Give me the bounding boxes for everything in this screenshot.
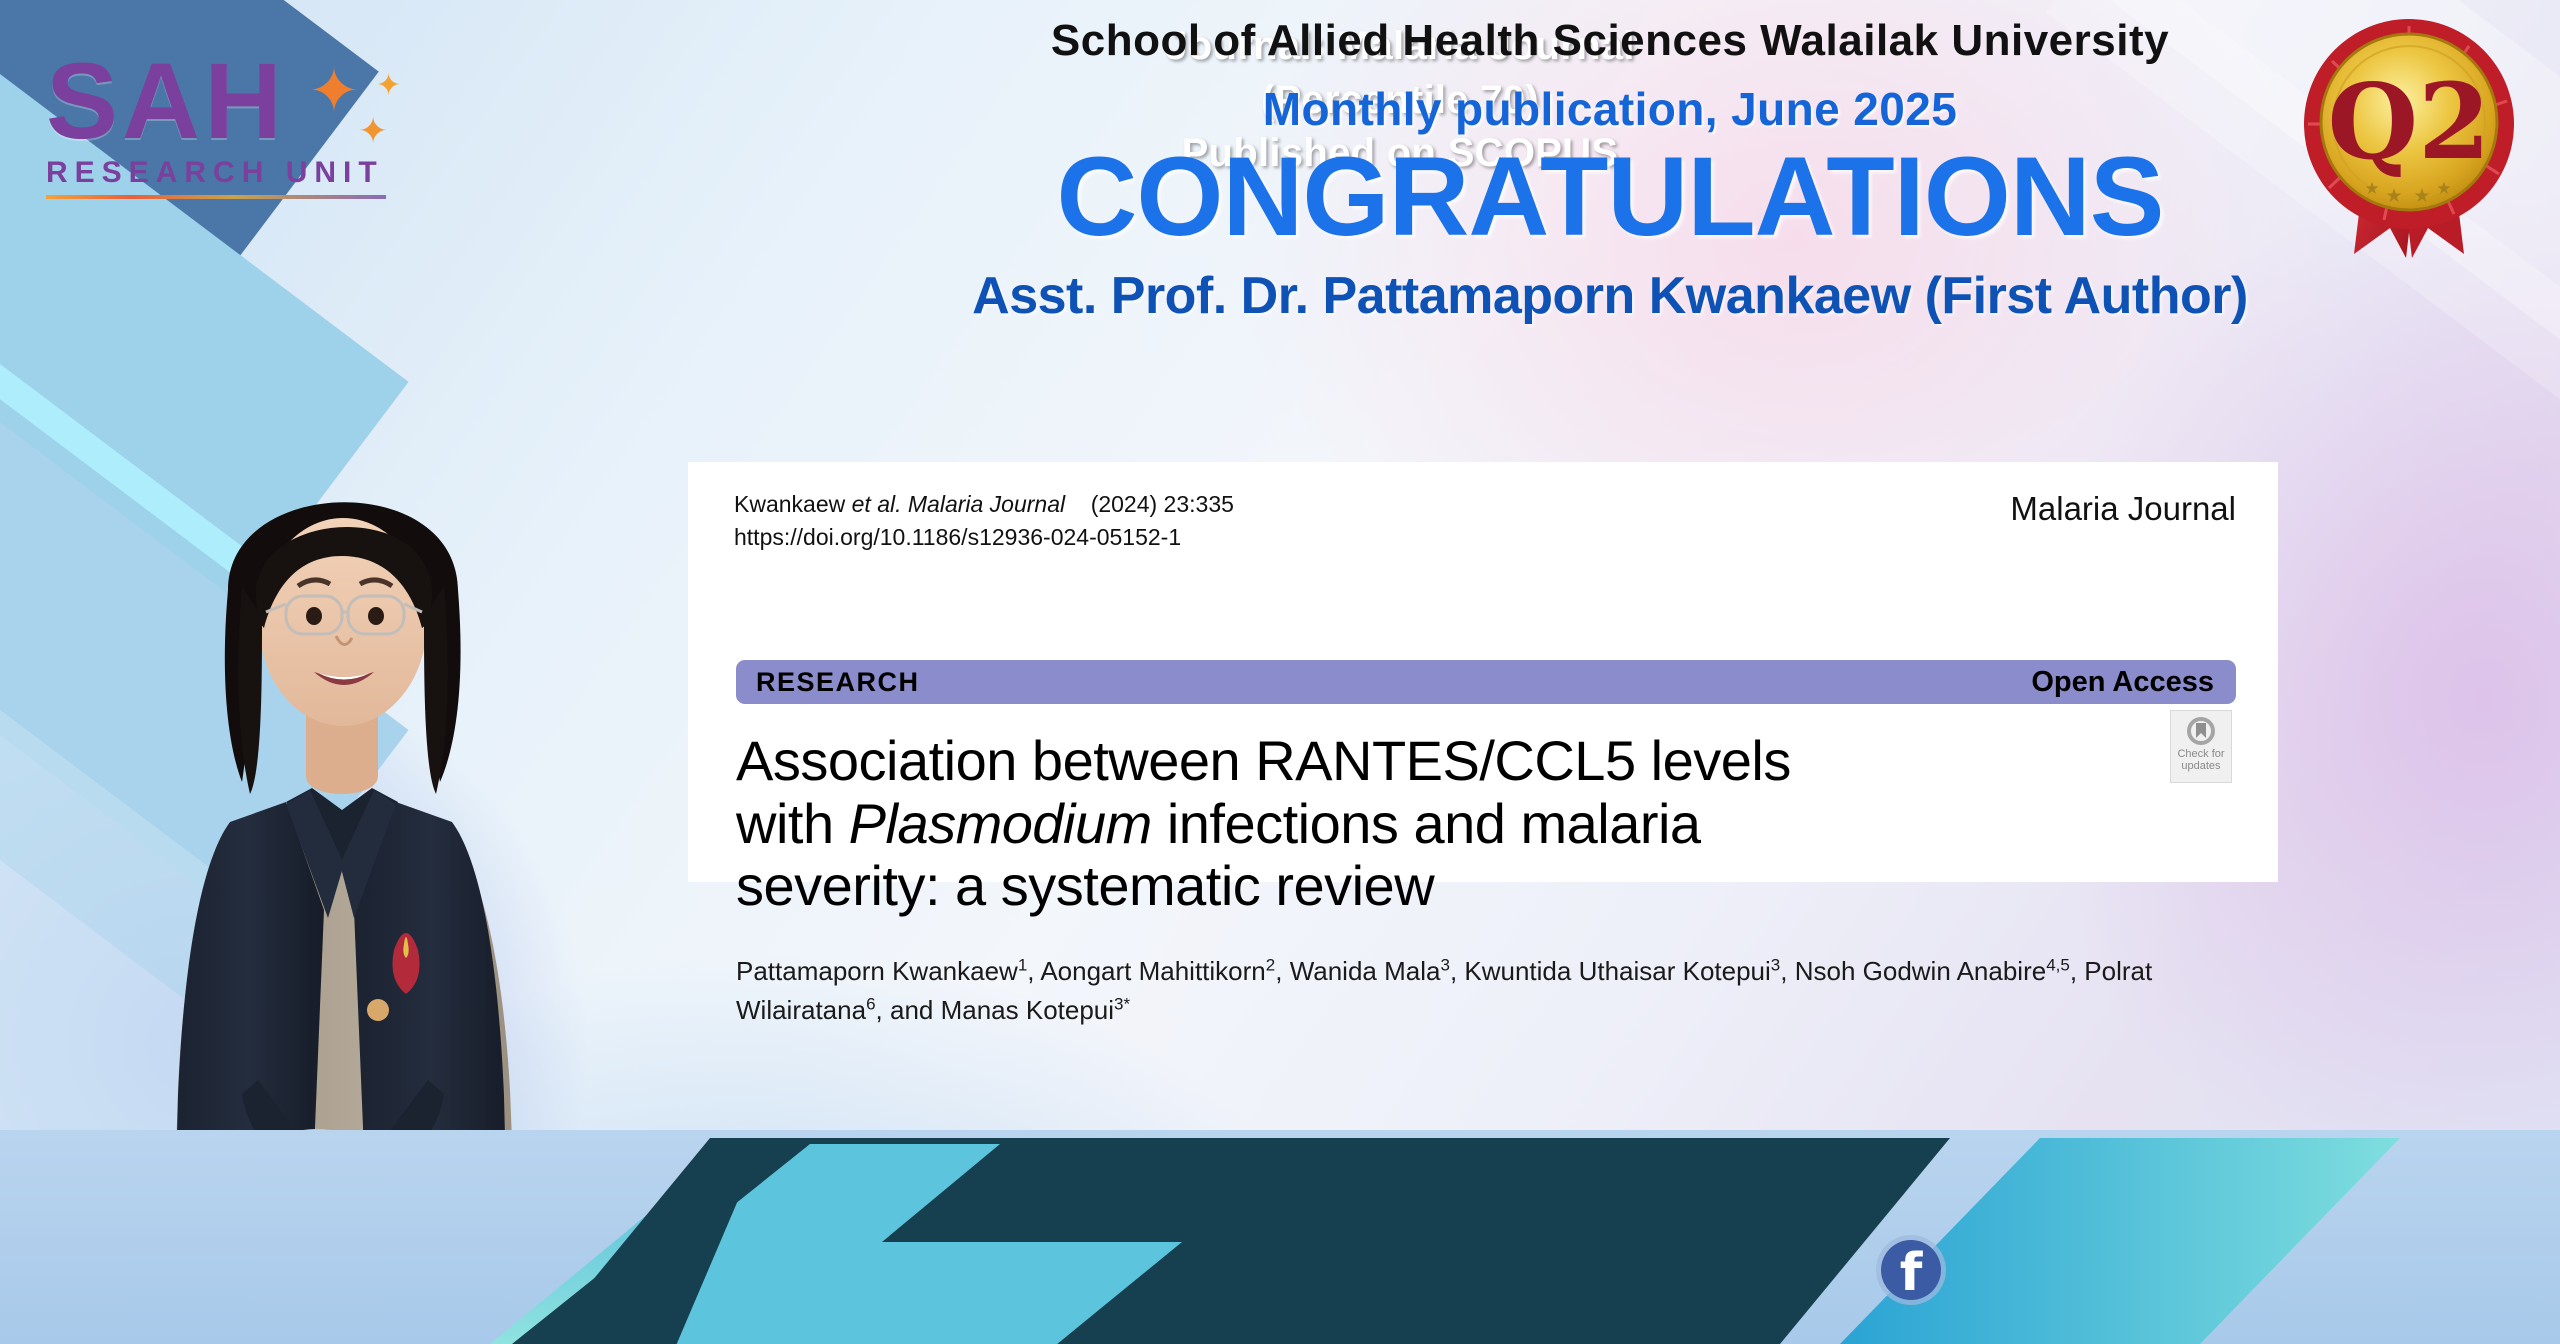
congratulations-poster: CONGRATULATIONS SAH RESEARCH UNIT ✦ ✦ ✦ [0, 0, 2560, 1344]
sparkle-icon-large: ✦ [308, 54, 360, 127]
featured-author-name: Asst. Prof. Dr. Pattamaporn Kwankaew (Fi… [700, 266, 2520, 326]
paper-doi[interactable]: https://doi.org/10.1186/s12936-024-05152… [734, 524, 1181, 550]
svg-text:★: ★ [2385, 186, 2402, 207]
paper-preview: Kwankaew et al. Malaria Journal (2024) 2… [688, 462, 2278, 882]
q2-label: Q2 [2328, 60, 2491, 183]
check-for-updates-badge[interactable]: Check for updates [2170, 710, 2232, 783]
author-entry: and Manas Kotepui3* [890, 995, 1130, 1025]
sparkle-icon-medium: ✦ [358, 110, 388, 152]
svg-text:★: ★ [2364, 179, 2379, 198]
congratulations-title: CONGRATULATIONS [700, 140, 2520, 254]
research-open-access-bar: RESEARCH Open Access [736, 660, 2236, 704]
sah-logo: SAH RESEARCH UNIT ✦ ✦ ✦ [46, 48, 426, 199]
author-affiliation-superscript: 1 [1018, 955, 1027, 974]
author-entry: Pattamaporn Kwankaew1 [736, 956, 1027, 986]
citation-volume: (2024) 23:335 [1091, 491, 1234, 517]
open-access-label: Open Access [2031, 666, 2214, 699]
author-entry: Kwuntida Uthaisar Kotepui3 [1464, 956, 1780, 986]
svg-text:★: ★ [2436, 179, 2451, 198]
crossmark-icon [2186, 716, 2216, 746]
rosette: Q2 ★ ★ ★ ★ [2304, 19, 2514, 229]
author-affiliation-superscript: 4,5 [2046, 955, 2070, 974]
author-affiliation-superscript: 3* [1114, 994, 1130, 1013]
author-affiliation-superscript: 3 [1771, 955, 1780, 974]
author-affiliation-superscript: 6 [866, 994, 875, 1013]
sparkle-icon-small: ✦ [376, 68, 401, 103]
svg-text:★: ★ [2413, 186, 2430, 207]
citation-authors: Kwankaew [734, 491, 852, 517]
paper-author-list: Pattamaporn Kwankaew1, Aongart Mahittiko… [736, 952, 2206, 1030]
author-affiliation-superscript: 3 [1440, 955, 1449, 974]
author-entry: Wanida Mala3 [1290, 956, 1450, 986]
bottom-banner [0, 1130, 2560, 1344]
check-updates-line-2: updates [2181, 760, 2220, 772]
sah-logo-underline [46, 195, 386, 199]
q2-award-badge: Q2 ★ ★ ★ ★ [2294, 6, 2524, 266]
header-block: School of Allied Health Sciences Walaila… [700, 16, 2520, 326]
check-updates-line-1: Check for [2177, 748, 2224, 760]
sah-logo-subtitle: RESEARCH UNIT [46, 156, 426, 190]
blazer-button [367, 999, 389, 1021]
school-name: School of Allied Health Sciences Walaila… [700, 16, 2520, 66]
author-entry: Nsoh Godwin Anabire4,5 [1795, 956, 2070, 986]
paper-citation: Kwankaew et al. Malaria Journal (2024) 2… [734, 488, 1234, 555]
article-type-label: RESEARCH [756, 667, 920, 698]
author-entry: Aongart Mahittikorn2 [1040, 956, 1275, 986]
journal-name: Malaria Journal [2010, 490, 2236, 528]
paper-title-italic: Plasmodium [849, 792, 1152, 855]
paper-title: Association between RANTES/CCL5 levels w… [736, 730, 1896, 918]
citation-journal-italic: et al. Malaria Journal [852, 491, 1066, 517]
publication-month: Monthly publication, June 2025 [700, 82, 2520, 136]
facebook-letter: f [1900, 1243, 1924, 1303]
author-affiliation-superscript: 2 [1266, 955, 1275, 974]
facebook-icon[interactable]: f [1875, 1234, 1947, 1306]
